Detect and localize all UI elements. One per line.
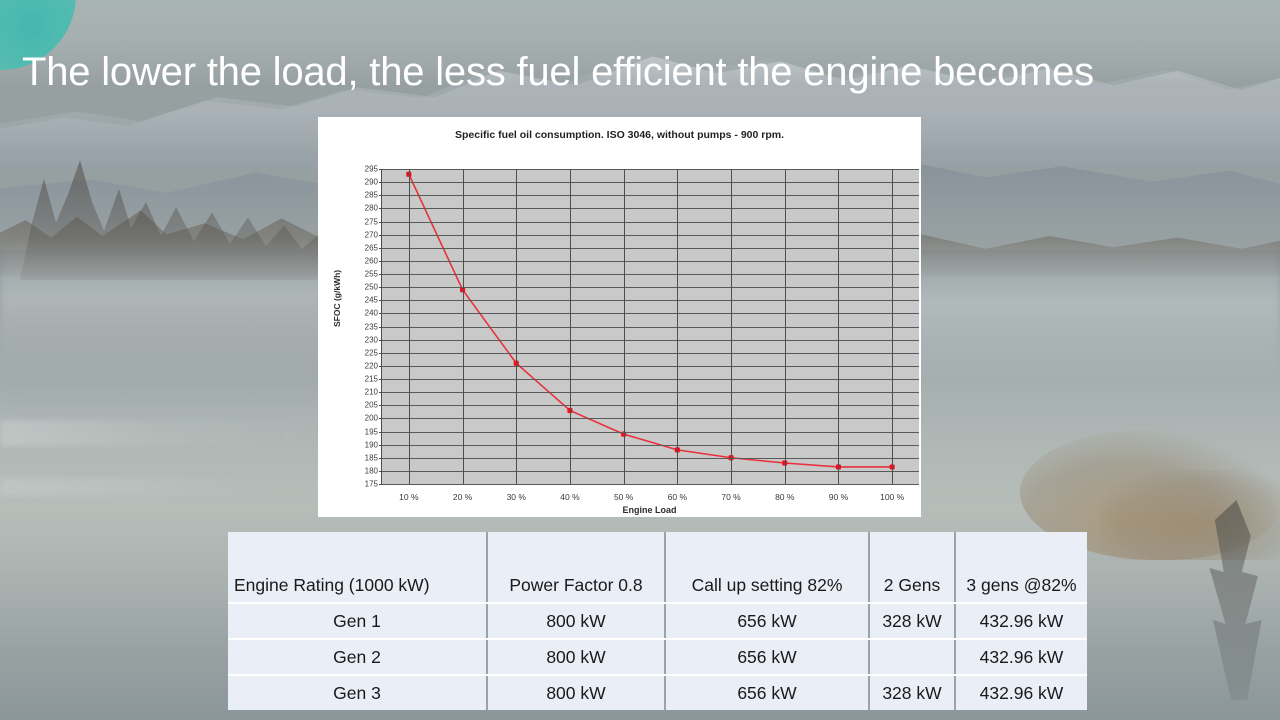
chart-y-tick-mark	[379, 195, 382, 196]
table-spacer-cell	[487, 532, 665, 568]
chart-x-axis-label: Engine Load	[381, 505, 918, 515]
table-spacer-cell	[665, 532, 869, 568]
chart-y-tick-label: 185	[365, 453, 378, 462]
generator-loading-table: Engine Rating (1000 kW)Power Factor 0.8C…	[228, 532, 1087, 710]
chart-gridline-vertical	[677, 169, 678, 484]
chart-x-tick-label: 90 %	[829, 492, 848, 502]
chart-y-tick-mark	[379, 432, 382, 433]
chart-x-tick-label: 60 %	[668, 492, 687, 502]
table-cell	[869, 639, 955, 675]
chart-y-tick-mark	[379, 484, 382, 485]
chart-gridline-horizontal	[382, 484, 919, 485]
chart-y-tick-label: 275	[365, 217, 378, 226]
table-cell: 656 kW	[665, 675, 869, 710]
chart-y-tick-label: 265	[365, 243, 378, 252]
chart-figure: Specific fuel oil consumption. ISO 3046,…	[318, 117, 921, 517]
chart-y-tick-label: 240	[365, 309, 378, 318]
chart-gridline-vertical	[624, 169, 625, 484]
table-header-cell: Power Factor 0.8	[487, 568, 665, 603]
table-cell: 656 kW	[665, 639, 869, 675]
chart-y-tick-mark	[379, 353, 382, 354]
chart-y-tick-label: 255	[365, 270, 378, 279]
chart-y-tick-mark	[379, 418, 382, 419]
chart-y-tick-mark	[379, 313, 382, 314]
table-cell: 432.96 kW	[955, 675, 1087, 710]
chart-x-tick-label: 40 %	[560, 492, 579, 502]
chart-gridline-vertical	[838, 169, 839, 484]
chart-plot-area: 2952902852802752702652602552502452402352…	[381, 169, 919, 485]
chart-y-tick-label: 285	[365, 191, 378, 200]
chart-y-tick-mark	[379, 445, 382, 446]
chart-y-tick-mark	[379, 392, 382, 393]
table-header-cell: 2 Gens	[869, 568, 955, 603]
chart-y-tick-label: 200	[365, 414, 378, 423]
table-header-cell: Call up setting 82%	[665, 568, 869, 603]
chart-y-tick-mark	[379, 471, 382, 472]
table-row: Gen 2800 kW656 kW432.96 kW	[228, 639, 1087, 675]
chart-y-tick-mark	[379, 182, 382, 183]
chart-x-tick-label: 20 %	[453, 492, 472, 502]
table-spacer-cell	[869, 532, 955, 568]
chart-y-tick-label: 215	[365, 375, 378, 384]
table-cell: Gen 1	[228, 603, 487, 639]
table-header-cell: Engine Rating (1000 kW)	[228, 568, 487, 603]
table-spacer-cell	[955, 532, 1087, 568]
chart-y-tick-label: 210	[365, 388, 378, 397]
table-header-row: Engine Rating (1000 kW)Power Factor 0.8C…	[228, 568, 1087, 603]
table-row: Gen 1800 kW656 kW328 kW432.96 kW	[228, 603, 1087, 639]
chart-y-tick-label: 180	[365, 466, 378, 475]
chart-y-tick-mark	[379, 235, 382, 236]
table-header-cell: 3 gens @82%	[955, 568, 1087, 603]
chart-y-tick-label: 220	[365, 361, 378, 370]
slide-canvas: The lower the load, the less fuel effici…	[0, 0, 1280, 720]
chart-title: Specific fuel oil consumption. ISO 3046,…	[318, 129, 921, 141]
chart-y-tick-label: 190	[365, 440, 378, 449]
chart-gridline-vertical	[570, 169, 571, 484]
chart-y-tick-label: 280	[365, 204, 378, 213]
chart-series-line	[409, 174, 892, 467]
chart-y-tick-label: 295	[365, 165, 378, 174]
chart-y-tick-mark	[379, 274, 382, 275]
chart-x-tick-label: 50 %	[614, 492, 633, 502]
table-cell: 328 kW	[869, 603, 955, 639]
chart-x-tick-label: 70 %	[721, 492, 740, 502]
chart-y-tick-label: 175	[365, 480, 378, 489]
chart-y-tick-mark	[379, 327, 382, 328]
chart-gridline-vertical	[516, 169, 517, 484]
chart-y-tick-mark	[379, 458, 382, 459]
table-spacer-row	[228, 532, 1087, 568]
table-cell: 800 kW	[487, 675, 665, 710]
chart-y-tick-mark	[379, 169, 382, 170]
table-cell: 800 kW	[487, 603, 665, 639]
chart-y-tick-mark	[379, 208, 382, 209]
chart-y-tick-mark	[379, 261, 382, 262]
chart-y-tick-label: 250	[365, 283, 378, 292]
chart-gridline-vertical	[785, 169, 786, 484]
chart-y-tick-mark	[379, 248, 382, 249]
table-cell: 432.96 kW	[955, 639, 1087, 675]
chart-x-tick-label: 10 %	[399, 492, 418, 502]
table-spacer-cell	[228, 532, 487, 568]
table-row: Gen 3800 kW656 kW328 kW432.96 kW	[228, 675, 1087, 710]
chart-image-card: Specific fuel oil consumption. ISO 3046,…	[318, 117, 921, 517]
chart-gridline-vertical	[892, 169, 893, 484]
chart-y-tick-label: 235	[365, 322, 378, 331]
chart-y-tick-label: 290	[365, 178, 378, 187]
table-cell: Gen 2	[228, 639, 487, 675]
chart-y-tick-mark	[379, 379, 382, 380]
chart-y-tick-mark	[379, 405, 382, 406]
table-body: Engine Rating (1000 kW)Power Factor 0.8C…	[228, 532, 1087, 710]
background-reed-bank-lower	[1100, 470, 1280, 560]
chart-y-tick-label: 260	[365, 256, 378, 265]
chart-y-axis-label: SFOC (g/kWh)	[332, 270, 342, 327]
background-water-streak-upper	[0, 420, 330, 446]
table-cell: 800 kW	[487, 639, 665, 675]
chart-x-tick-label: 80 %	[775, 492, 794, 502]
table-cell: 656 kW	[665, 603, 869, 639]
chart-x-tick-label: 30 %	[507, 492, 526, 502]
chart-y-tick-label: 195	[365, 427, 378, 436]
slide-title: The lower the load, the less fuel effici…	[22, 48, 1252, 96]
chart-x-tick-label: 100 %	[880, 492, 904, 502]
chart-y-tick-label: 270	[365, 230, 378, 239]
chart-y-tick-label: 225	[365, 348, 378, 357]
chart-y-tick-label: 205	[365, 401, 378, 410]
table-cell: 328 kW	[869, 675, 955, 710]
chart-y-tick-label: 230	[365, 335, 378, 344]
chart-y-tick-mark	[379, 366, 382, 367]
chart-y-tick-mark	[379, 340, 382, 341]
chart-gridline-vertical	[731, 169, 732, 484]
chart-gridline-vertical	[409, 169, 410, 484]
table-cell: 432.96 kW	[955, 603, 1087, 639]
background-water-streak-lower	[0, 478, 260, 496]
chart-y-tick-mark	[379, 300, 382, 301]
chart-y-tick-mark	[379, 222, 382, 223]
chart-y-tick-label: 245	[365, 296, 378, 305]
chart-gridline-vertical	[463, 169, 464, 484]
table-cell: Gen 3	[228, 675, 487, 710]
chart-y-tick-mark	[379, 287, 382, 288]
